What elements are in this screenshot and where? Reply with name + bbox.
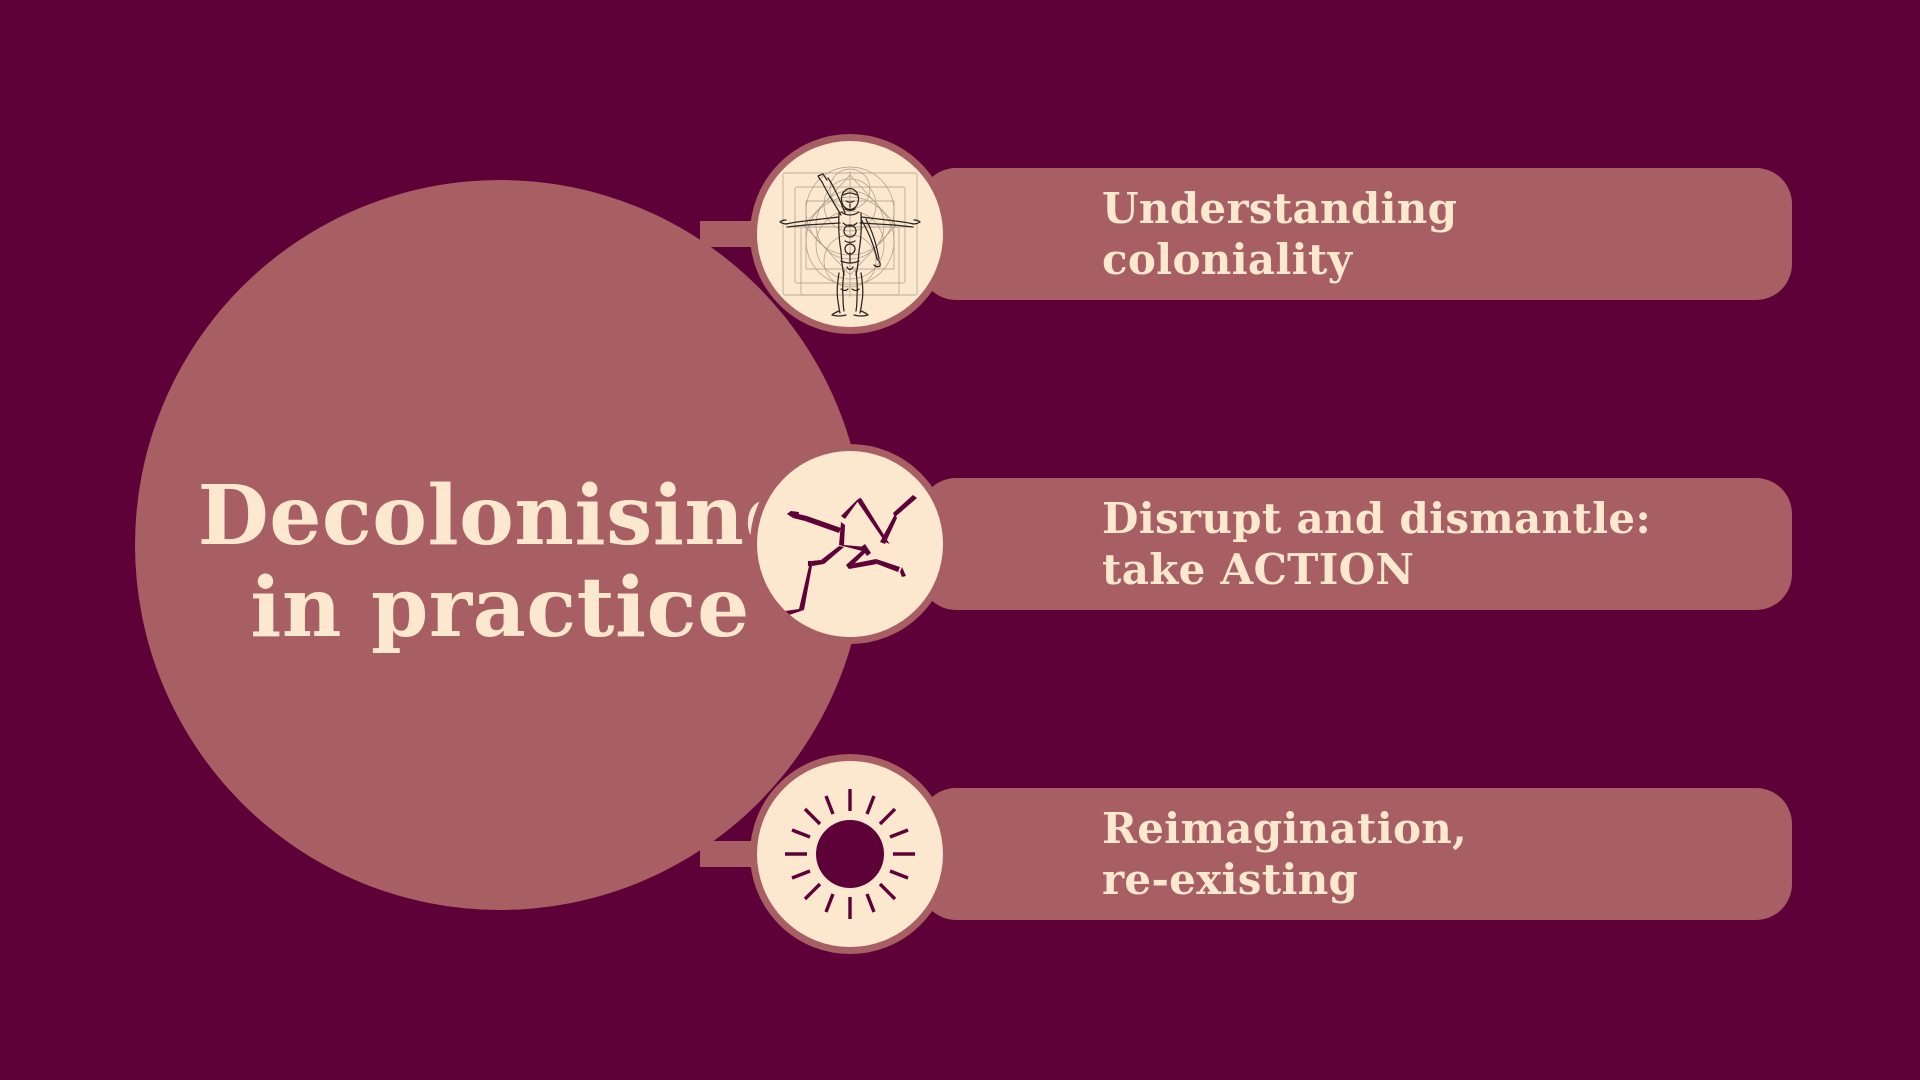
branch-row-1[interactable]: Understanding coloniality bbox=[920, 168, 1792, 300]
page-title: Decolonising in practice bbox=[158, 471, 843, 655]
branch-row-2[interactable]: Disrupt and dismantle: take ACTION bbox=[920, 478, 1792, 610]
slide-canvas: Decolonising in practice bbox=[0, 0, 1920, 1080]
branch-row-3[interactable]: Reimagination, re-existing bbox=[920, 788, 1792, 920]
sun-icon bbox=[750, 754, 950, 954]
branch-label-2: Disrupt and dismantle: take ACTION bbox=[1102, 493, 1766, 595]
crack-lightning-icon bbox=[750, 444, 950, 644]
vitruvian-man-icon bbox=[750, 134, 950, 334]
branch-label-3: Reimagination, re-existing bbox=[1102, 803, 1766, 905]
branch-label-1: Understanding coloniality bbox=[1102, 183, 1766, 285]
